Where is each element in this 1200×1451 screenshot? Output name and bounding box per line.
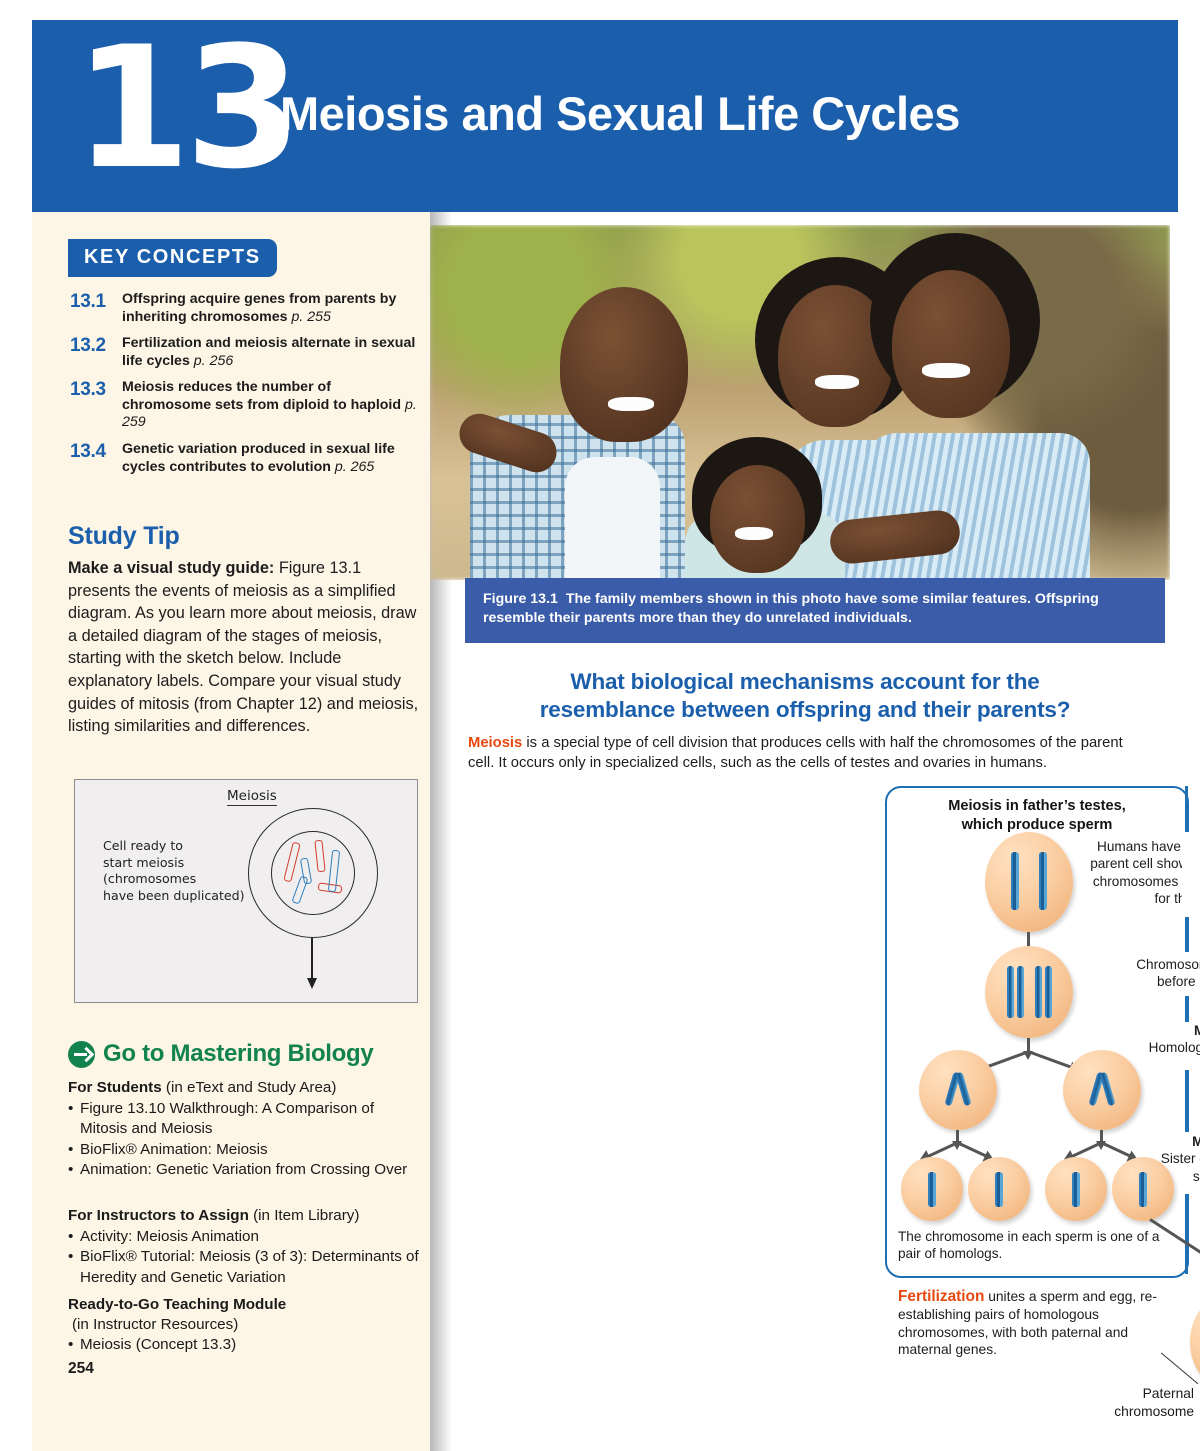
for-instructors-heading: For Instructors to Assign (in Item Libra…	[68, 1206, 420, 1226]
study-tip-heading: Study Tip	[68, 522, 180, 551]
teaching-module-list: •Meiosis (Concept 13.3)	[68, 1335, 424, 1355]
chromosome-blue-duplicated	[1045, 966, 1052, 1018]
sketch-arrow-icon	[311, 938, 313, 982]
chromosome-blue-duplicated	[1035, 966, 1042, 1018]
page-number: 254	[68, 1360, 94, 1378]
study-tip-lead: Make a visual study guide:	[68, 559, 274, 577]
for-instructors-list: •Activity: Meiosis Animation •BioFlix® T…	[68, 1227, 424, 1288]
teaching-module-heading: Ready-to-Go Teaching Module	[68, 1295, 420, 1315]
list-item[interactable]: •Meiosis (Concept 13.3)	[68, 1335, 424, 1355]
key-concept-text: Fertilization and meiosis alternate in s…	[122, 335, 420, 370]
key-concept-page: p. 265	[335, 459, 374, 475]
study-tip-text: Figure 13.1 presents the events of meios…	[68, 559, 418, 735]
sketch-chromosome-blue-2	[291, 875, 308, 904]
sidebar: KEY CONCEPTS 13.1 Offspring acquire gene…	[32, 212, 430, 1451]
key-concepts-badge: KEY CONCEPTS	[68, 239, 277, 277]
sketch-note: Cell ready to start meiosis (chromosomes…	[103, 838, 245, 904]
note-meiosis-two: Meiosis II: Sister chromatids are separa…	[1090, 1133, 1200, 1185]
arrow-circle-icon	[68, 1041, 95, 1068]
chapter-number: 13	[74, 12, 296, 204]
note-meiosis-two-label: Meiosis II:	[1192, 1134, 1200, 1149]
sketch-chromosome-red-1	[283, 842, 300, 883]
mid-gap-mask	[1182, 832, 1200, 917]
panel-father-title: Meiosis in father’s testes, which produc…	[887, 797, 1187, 834]
note-meiosis-one-label: Meiosis I:	[1194, 1023, 1200, 1038]
key-concept-page: p. 256	[194, 353, 233, 369]
sketch-cell-membrane	[248, 808, 378, 938]
father-meiosis1-cell-left	[919, 1050, 997, 1130]
note-duplication: Chromosomes are duplicated before meiosi…	[1090, 956, 1200, 991]
father-parent-cell	[985, 832, 1073, 932]
key-concept-number: 13.1	[70, 291, 122, 326]
chromosome-blue	[1011, 852, 1019, 910]
bullet-icon: •	[68, 1227, 80, 1247]
teaching-module-sub: (in Instructor Resources)	[72, 1315, 424, 1335]
bullet-icon: •	[68, 1140, 80, 1160]
key-concept-item-2[interactable]: 13.2 Fertilization and meiosis alternate…	[70, 335, 420, 370]
study-sketch-box: Meiosis Cell ready to start meiosis (chr…	[74, 779, 418, 1003]
fertilization-keyword: Fertilization	[898, 1288, 984, 1305]
mastering-biology-header: Go to Mastering Biology	[68, 1040, 373, 1068]
list-item[interactable]: •Figure 13.10 Walkthrough: A Comparison …	[68, 1099, 424, 1140]
key-concept-item-4[interactable]: 13.4 Genetic variation produced in sexua…	[70, 441, 420, 476]
sperm-cell	[968, 1157, 1030, 1221]
father-meiosis1-cell-right	[1063, 1050, 1141, 1130]
chromosome-blue	[995, 1172, 1003, 1207]
chromosome-blue	[928, 1172, 936, 1207]
bullet-icon: •	[68, 1247, 80, 1288]
list-item[interactable]: •BioFlix® Animation: Meiosis	[68, 1140, 424, 1160]
bullet-icon: •	[68, 1335, 80, 1355]
key-concept-number: 13.3	[70, 379, 122, 432]
sketch-chromosome-red-2	[314, 840, 325, 873]
father-panel-footer: The chromosome in each sperm is one of a…	[898, 1228, 1160, 1263]
sperm-cell	[901, 1157, 963, 1221]
bullet-icon: •	[68, 1160, 80, 1180]
chromosome-blue	[1072, 1172, 1080, 1207]
mastering-biology-title: Go to Mastering Biology	[103, 1040, 373, 1068]
sketch-title: Meiosis	[227, 788, 277, 806]
note-meiosis-two-text: Sister chromatids are separated.	[1161, 1151, 1200, 1183]
key-concept-text: Meiosis reduces the number of chromosome…	[122, 379, 420, 432]
for-students-list: •Figure 13.10 Walkthrough: A Comparison …	[68, 1099, 424, 1181]
list-item[interactable]: •Animation: Genetic Variation from Cross…	[68, 1160, 424, 1180]
key-concept-text: Genetic variation produced in sexual lif…	[122, 441, 420, 476]
key-concept-text: Offspring acquire genes from parents by …	[122, 291, 420, 326]
study-tip-body: Make a visual study guide: Figure 13.1 p…	[68, 557, 420, 738]
fertilized-egg-cell	[1190, 1296, 1200, 1388]
list-item[interactable]: •Activity: Meiosis Animation	[68, 1227, 424, 1247]
chromosome-blue-x	[949, 1072, 967, 1106]
father-duplicated-cell	[985, 946, 1073, 1038]
for-students-heading: For Students (in eText and Study Area)	[68, 1078, 420, 1098]
bullet-icon: •	[68, 1099, 80, 1140]
key-concept-number: 13.4	[70, 441, 122, 476]
key-concept-page: p. 255	[292, 309, 331, 325]
chromosome-blue	[1039, 852, 1047, 910]
list-item[interactable]: •BioFlix® Tutorial: Meiosis (3 of 3): De…	[68, 1247, 424, 1288]
key-concept-item-3[interactable]: 13.3 Meiosis reduces the number of chrom…	[70, 379, 420, 432]
chromosome-blue-duplicated	[1007, 966, 1014, 1018]
meiosis-diagram: Meiosis in father’s testes, which produc…	[430, 0, 1200, 1451]
chromosome-blue-x	[1093, 1072, 1111, 1106]
fertilization-paragraph: Fertilization unites a sperm and egg, re…	[898, 1288, 1180, 1359]
note-meiosis-one: Meiosis I: Homologs are separated.	[1090, 1022, 1200, 1057]
sketch-nucleus	[271, 831, 355, 915]
paternal-chromosome-label: Paternal chromosome	[1094, 1385, 1194, 1421]
key-concept-item-1[interactable]: 13.1 Offspring acquire genes from parent…	[70, 291, 420, 326]
note-meiosis-one-text: Homologs are separated.	[1149, 1040, 1200, 1055]
chromosome-blue-duplicated	[1017, 966, 1024, 1018]
key-concept-number: 13.2	[70, 335, 122, 370]
